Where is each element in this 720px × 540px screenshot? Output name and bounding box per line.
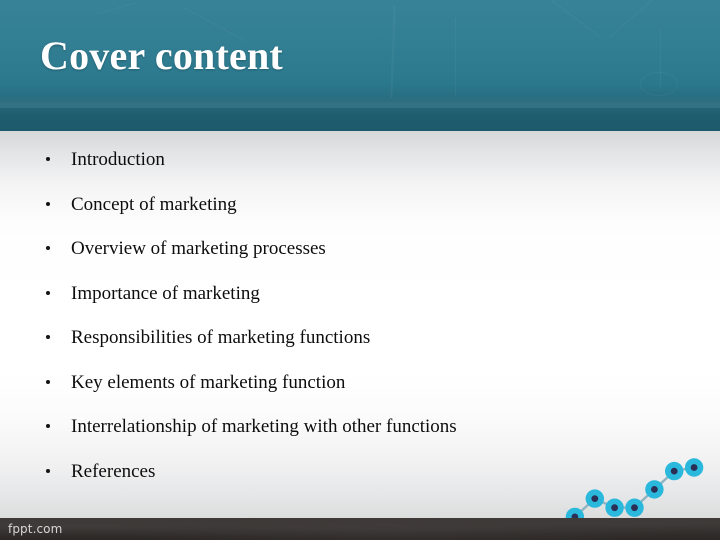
- chalk-texture-streak: [640, 72, 678, 96]
- list-item: Key elements of marketing function: [40, 369, 680, 414]
- chalk-texture-streak: [609, 0, 667, 38]
- header-bottom-band: [0, 108, 720, 131]
- presentation-slide: Cover content Introduction Concept of ma…: [0, 0, 720, 540]
- list-item-label: Key elements of marketing function: [71, 372, 345, 393]
- chart-marker-core: [631, 504, 638, 511]
- list-item-label: Overview of marketing processes: [71, 238, 326, 259]
- chart-marker-core: [591, 495, 598, 502]
- chart-marker-core: [651, 486, 658, 493]
- chalk-texture-streak: [455, 18, 456, 96]
- chalk-texture-streak: [390, 6, 395, 98]
- list-item-label: Interrelationship of marketing with othe…: [71, 416, 457, 437]
- chart-data-markers: [566, 458, 704, 526]
- bullet-dot-icon: [46, 424, 50, 428]
- bullet-dot-icon: [46, 202, 50, 206]
- chart-marker-core: [671, 468, 678, 475]
- header-band-highlight: [0, 96, 720, 108]
- chart-marker-core: [691, 464, 698, 471]
- footer-watermark: fppt.com: [8, 521, 62, 537]
- list-item-label: Responsibilities of marketing functions: [71, 327, 370, 348]
- chalk-texture-streak: [660, 30, 661, 88]
- bullet-dot-icon: [46, 380, 50, 384]
- list-item-label: Concept of marketing: [71, 194, 237, 215]
- chart-marker-core: [611, 504, 618, 511]
- list-item-label: Introduction: [71, 149, 165, 170]
- list-item: Concept of marketing: [40, 191, 680, 236]
- slide-footer: fppt.com: [0, 518, 720, 540]
- footer-texture: [0, 518, 720, 540]
- slide-header: Cover content: [0, 0, 720, 131]
- bullet-dot-icon: [46, 335, 50, 339]
- bullet-dot-icon: [46, 291, 50, 295]
- list-item: Overview of marketing processes: [40, 235, 680, 280]
- chalk-texture-streak: [97, 3, 136, 14]
- list-item: Importance of marketing: [40, 280, 680, 325]
- bullet-dot-icon: [46, 246, 50, 250]
- list-item: Responsibilities of marketing functions: [40, 324, 680, 369]
- bullet-dot-icon: [46, 469, 50, 473]
- list-item-label: Importance of marketing: [71, 283, 260, 304]
- list-item: Introduction: [40, 146, 680, 191]
- bullet-dot-icon: [46, 157, 50, 161]
- list-item-label: References: [71, 461, 155, 482]
- page-title: Cover content: [40, 31, 283, 81]
- chalk-texture-streak: [529, 0, 601, 38]
